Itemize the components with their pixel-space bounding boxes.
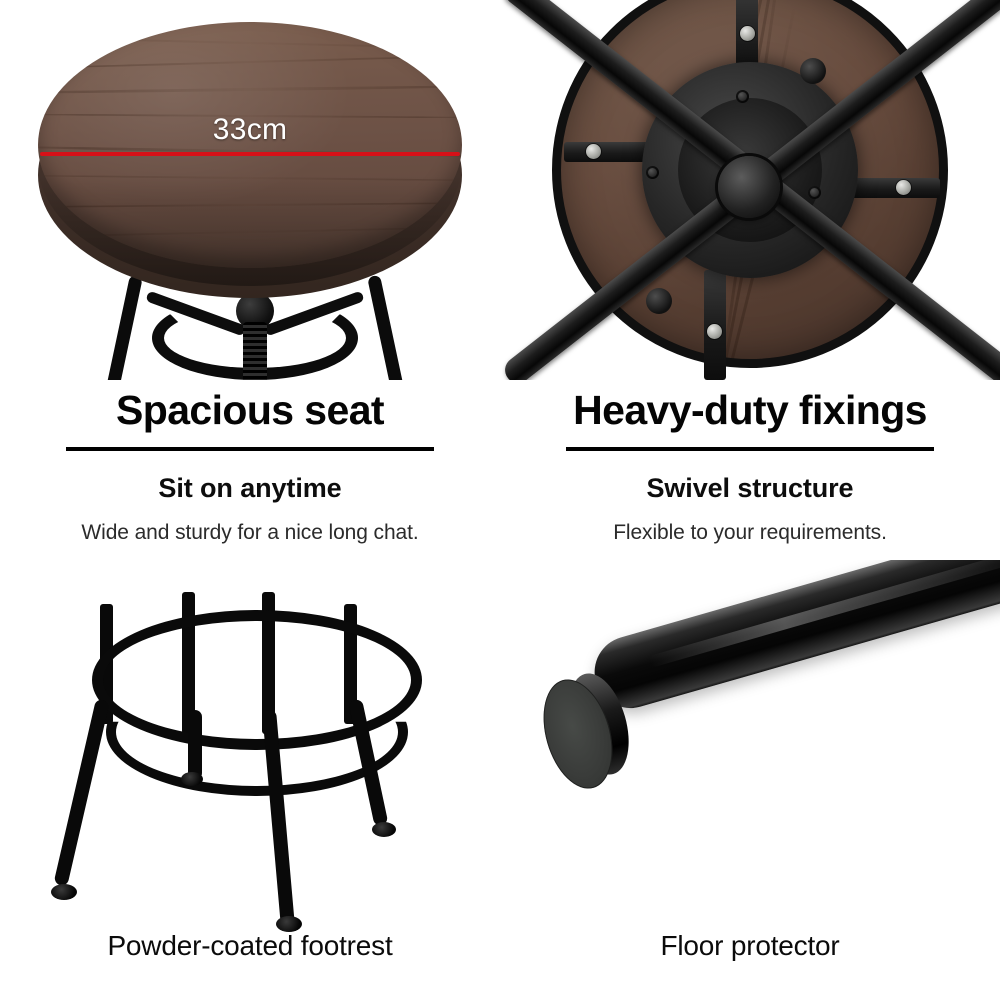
knob-lower — [646, 288, 672, 314]
panel-heavy-duty-fixings — [500, 0, 1000, 380]
seat-leg-left — [105, 275, 143, 380]
plate-bolt-left — [646, 166, 659, 179]
footrest-leg-2 — [188, 710, 202, 780]
panel-floor-protector: Floor protector — [500, 560, 1000, 1000]
strap-screw-top — [740, 26, 755, 41]
description-seat: Wide and sturdy for a nice long chat. — [0, 521, 500, 545]
seat-screw-column — [243, 322, 267, 380]
measurement-label: 33cm — [0, 113, 500, 147]
divider-rule-right — [566, 447, 934, 451]
swivel-photo — [500, 0, 1000, 380]
footrest-photo — [0, 560, 500, 940]
strap-screw-right — [896, 180, 911, 195]
text-block-swivel: Heavy-duty fixings Swivel structure Flex… — [500, 390, 1000, 545]
strap-screw-left — [586, 144, 601, 159]
panel-powder-coated-footrest: Powder-coated footrest — [0, 560, 500, 1000]
footrest-foot-2 — [181, 772, 203, 786]
measurement-line — [40, 152, 460, 156]
swivel-center-hub — [718, 156, 780, 218]
subtitle-swivel-structure: Swivel structure — [500, 473, 1000, 504]
footrest-leg-1 — [53, 698, 109, 886]
footrest-foot-4 — [372, 822, 396, 837]
seat-photo: 33cm — [0, 0, 500, 380]
protector-photo — [500, 560, 1000, 940]
plate-bolt-right — [808, 186, 821, 199]
headline-heavy-duty-fixings: Heavy-duty fixings — [500, 390, 1000, 431]
headline-spacious-seat: Spacious seat — [0, 390, 500, 431]
strap-screw-bottom — [707, 324, 722, 339]
footrest-foot-1 — [51, 884, 77, 900]
infographic-sheet: 33cm — [0, 0, 1000, 1000]
description-swivel: Flexible to your requirements. — [500, 521, 1000, 545]
caption-powder-coated-footrest: Powder-coated footrest — [0, 930, 500, 962]
divider-rule-left — [66, 447, 434, 451]
caption-floor-protector: Floor protector — [500, 930, 1000, 962]
panel-spacious-seat: 33cm — [0, 0, 500, 380]
knob-upper — [800, 58, 826, 84]
plate-bolt-top — [736, 90, 749, 103]
seat-leg-right — [367, 275, 405, 380]
subtitle-sit-on-anytime: Sit on anytime — [0, 473, 500, 504]
text-block-seat: Spacious seat Sit on anytime Wide and st… — [0, 390, 500, 545]
